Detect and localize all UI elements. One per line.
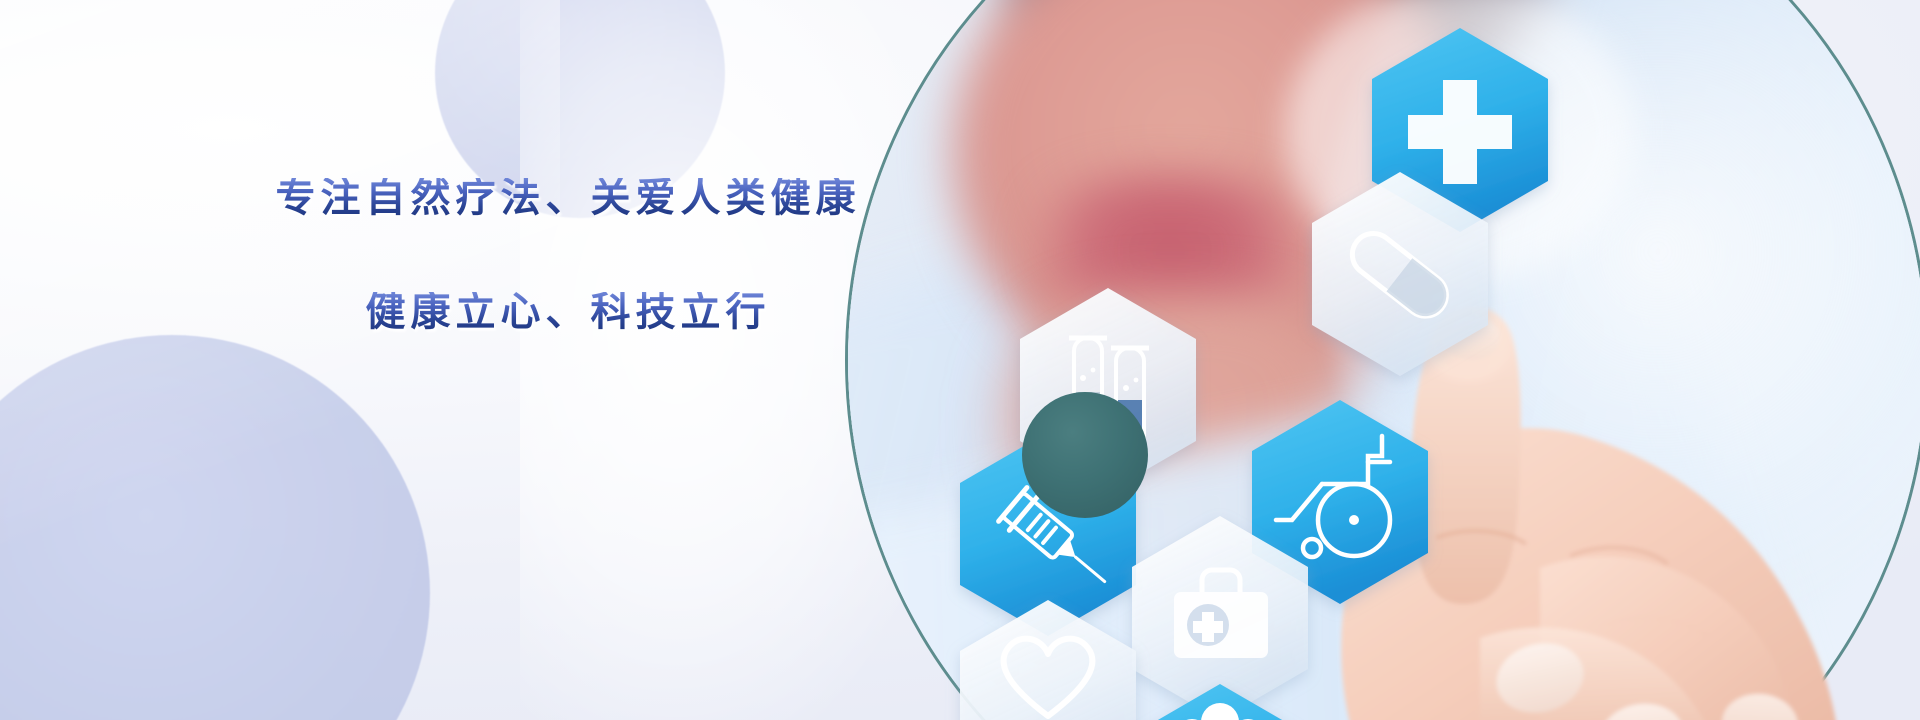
headline-line-2: 健康立心、科技立行	[258, 292, 878, 332]
hexagon-icon-cluster	[930, 0, 1690, 720]
headline-block: 专注自然疗法、关爱人类健康 健康立心、科技立行	[258, 178, 878, 332]
lavender-circle-bottom	[0, 335, 430, 720]
headline-line-1: 专注自然疗法、关爱人类健康	[258, 178, 878, 218]
hex-heart	[960, 600, 1136, 720]
hex-people	[1132, 684, 1308, 720]
health-banner: 专注自然疗法、关爱人类健康 健康立心、科技立行	[0, 0, 1920, 720]
teal-arc-dot	[1022, 392, 1148, 518]
